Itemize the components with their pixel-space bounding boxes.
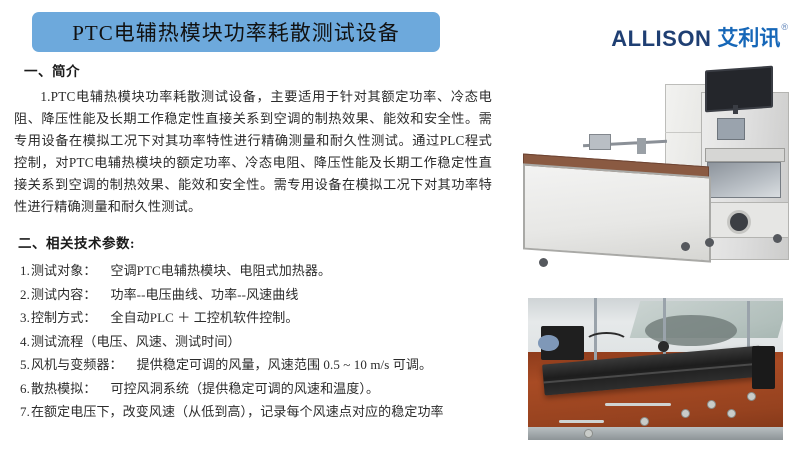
list-item: 6.散热模拟：可控风洞系统（提供稳定可调的风速和温度）。 — [14, 377, 492, 401]
list-item: 7.在额定电压下，改变风速（从低到高），记录每个风速点对应的稳定功率 — [14, 400, 492, 424]
list-item-label: 测试流程（电压、风速、测试时间） — [31, 334, 241, 349]
slide-page: PTC电辅热模块功率耗散测试设备 ALLISON 艾利讯 ® 一、简介 1.PT… — [0, 0, 800, 450]
list-item-label: 测试对象： — [31, 263, 97, 278]
table-slot — [605, 403, 671, 406]
heater-end-cap — [752, 346, 775, 389]
equipment-photo — [505, 62, 793, 274]
table-slot — [559, 420, 605, 423]
list-item-label: 测试内容： — [31, 287, 97, 302]
parameters-heading: 二、相关技术参数: — [18, 232, 492, 252]
test-fixture-clamp — [637, 138, 646, 154]
table-edge — [528, 427, 783, 440]
list-item-label: 散热模拟： — [31, 381, 97, 396]
hmi-touch-panel — [717, 118, 745, 140]
list-item-value: 全自动PLC ＋ 工控机软件控制。 — [110, 310, 298, 325]
angled-access-panel — [707, 162, 781, 198]
registered-trademark-icon: ® — [781, 22, 788, 32]
list-item-value: 功率--电压曲线、功率--风速曲线 — [110, 287, 298, 302]
list-item: 4.测试流程（电压、风速、测试时间） — [14, 330, 492, 354]
list-item-number: 4. — [20, 334, 30, 349]
brand-logo: ALLISON 艾利讯 ® — [611, 28, 788, 50]
list-item: 3.控制方式：全自动PLC ＋ 工控机软件控制。 — [14, 306, 492, 330]
intro-paragraph: 1.PTC电辅热模块功率耗散测试设备，主要适用于针对其额定功率、冷态电阻、降压性… — [14, 86, 492, 218]
page-title-banner: PTC电辅热模块功率耗散测试设备 — [32, 12, 440, 52]
fixing-screw — [747, 392, 756, 401]
list-item-label: 风机与变频器： — [31, 357, 123, 372]
content-text-column: 一、简介 1.PTC电辅热模块功率耗散测试设备，主要适用于针对其额定功率、冷态电… — [14, 60, 492, 424]
support-rod — [747, 301, 750, 349]
list-item-label: 控制方式： — [31, 310, 97, 325]
intro-heading: 一、简介 — [24, 60, 492, 80]
list-item-number: 5. — [20, 357, 30, 372]
equipment-illustration — [505, 62, 793, 274]
monitor-screen — [705, 66, 773, 113]
logo-text-en: ALLISON — [611, 28, 711, 50]
rotary-knob-icon — [727, 210, 751, 234]
list-item: 1.测试对象：空调PTC电辅热模块、电阻式加热器。 — [14, 259, 492, 283]
list-item: 2.测试内容：功率--电压曲线、功率--风速曲线 — [14, 283, 492, 307]
caster-wheel — [773, 234, 782, 243]
list-item-number: 7. — [20, 404, 30, 419]
caster-wheel — [681, 242, 690, 251]
parameters-list: 1.测试对象：空调PTC电辅热模块、电阻式加热器。 2.测试内容：功率--电压曲… — [14, 259, 492, 424]
caster-wheel — [539, 258, 548, 267]
cable — [584, 332, 629, 353]
list-item-label: 在额定电压下，改变风速（从低到高），记录每个风速点对应的稳定功率 — [31, 404, 444, 419]
sample-photo — [528, 298, 783, 440]
list-item: 5.风机与变频器：提供稳定可调的风量，风速范围 0.5 ~ 10 m/s 可调。 — [14, 353, 492, 377]
list-item-number: 3. — [20, 310, 30, 325]
fixing-screw — [707, 400, 716, 409]
fixing-screw — [681, 409, 690, 418]
page-title: PTC电辅热模块功率耗散测试设备 — [72, 17, 400, 47]
list-item-value: 提供稳定可调的风量，风速范围 0.5 ~ 10 m/s 可调。 — [137, 357, 432, 372]
fixing-screw — [727, 409, 736, 418]
list-item-number: 1. — [20, 263, 30, 278]
monitor-stand — [733, 105, 738, 114]
list-item-number: 2. — [20, 287, 30, 302]
list-item-value: 可控风洞系统（提供稳定可调的风速和温度）。 — [110, 381, 379, 396]
list-item-number: 6. — [20, 381, 30, 396]
test-fixture-head — [589, 134, 611, 150]
logo-text-cn: 艾利讯 — [717, 28, 780, 49]
rod-joint — [658, 341, 669, 352]
caster-wheel — [705, 238, 714, 247]
heater-module-illustration — [528, 298, 783, 440]
list-item-value: 空调PTC电辅热模块、电阻式加热器。 — [110, 263, 331, 278]
sensor-lens-icon — [538, 335, 558, 351]
cabinet-drawer — [705, 148, 785, 162]
fixing-screw — [584, 429, 593, 438]
